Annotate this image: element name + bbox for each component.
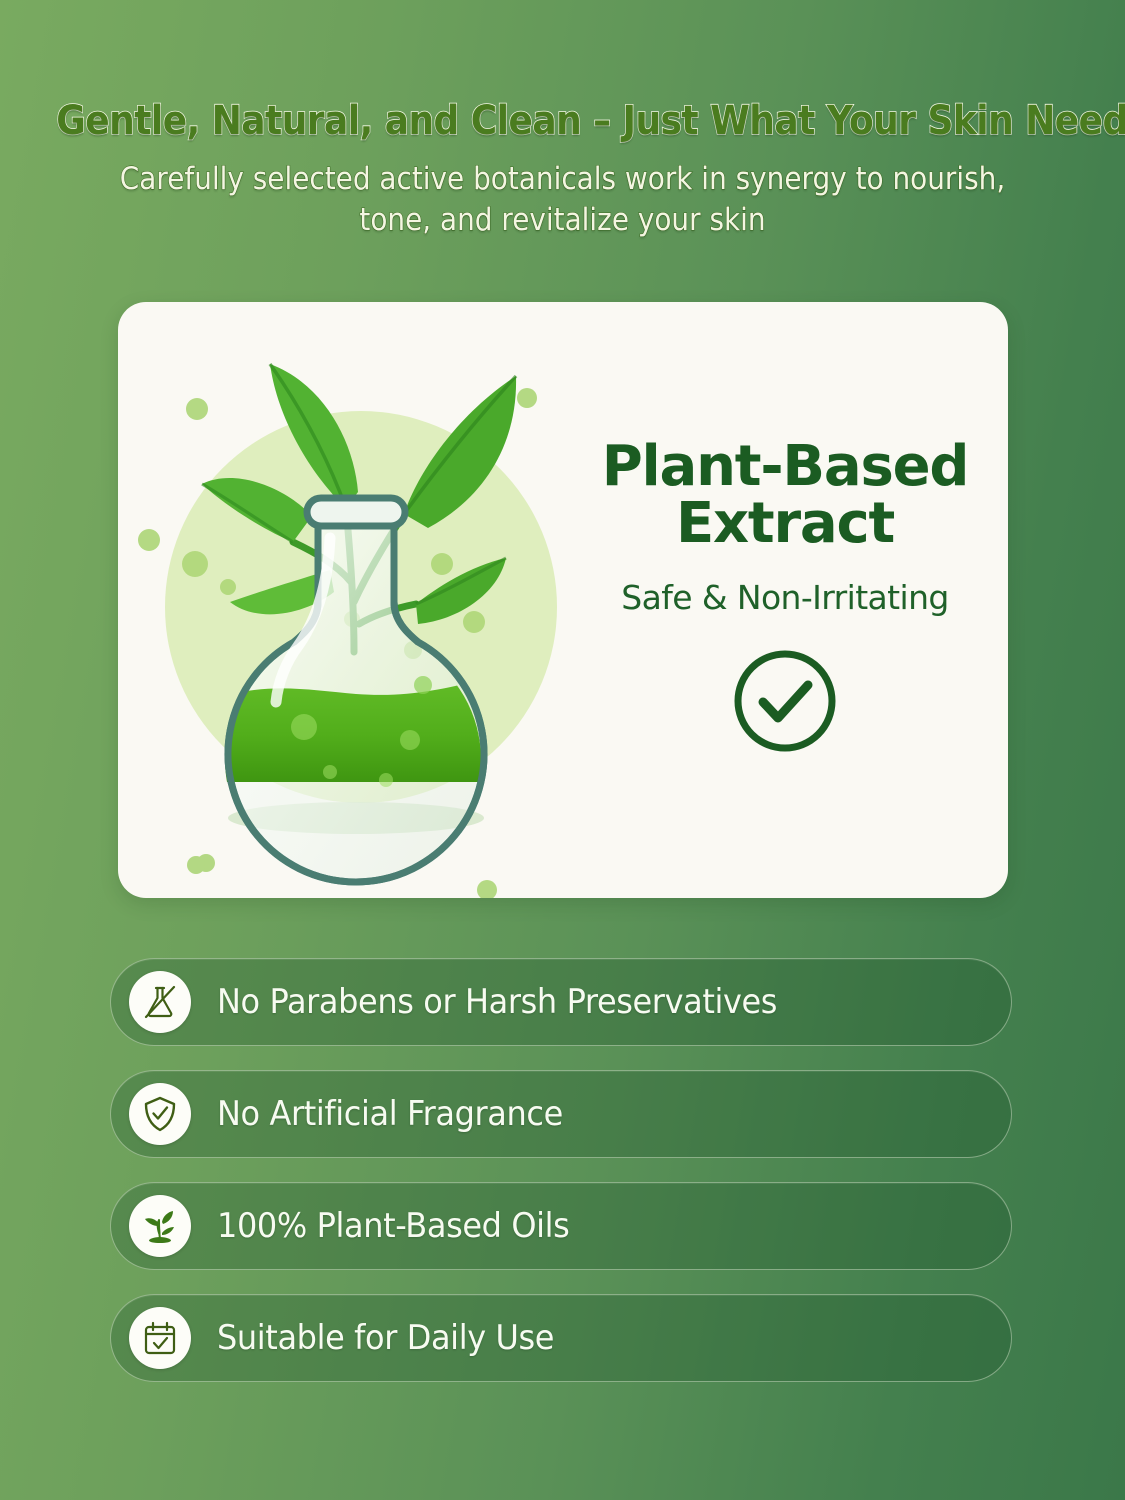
page-headline: Gentle, Natural, and Clean – Just What Y… [56,98,1069,145]
shield-check-icon [129,1083,191,1145]
card-title: Plant-Based Extract [588,438,982,552]
feature-item-no-parabens[interactable]: No Parabens or Harsh Preservatives [110,958,1012,1046]
feature-label: Suitable for Daily Use [217,1318,554,1358]
subtitle-line-1: Carefully selected active botanicals wor… [56,159,1069,200]
feature-item-plant-based-oils[interactable]: 100% Plant-Based Oils [110,1182,1012,1270]
infographic-page: Gentle, Natural, and Clean – Just What Y… [0,0,1125,1500]
header-block: Gentle, Natural, and Clean – Just What Y… [0,98,1125,241]
card-text-block: Plant-Based Extract Safe & Non-Irritatin… [588,438,1008,762]
card-title-line-2: Extract [588,495,982,552]
feature-list: No Parabens or Harsh Preservatives No Ar… [110,958,1012,1406]
feature-label: No Artificial Fragrance [217,1094,563,1134]
seedling-icon [129,1195,191,1257]
flask-with-plant-illustration [118,302,588,898]
circle-check-icon [729,645,841,762]
feature-label: 100% Plant-Based Oils [217,1206,569,1246]
feature-item-daily-use[interactable]: Suitable for Daily Use [110,1294,1012,1382]
card-subtitle: Safe & Non-Irritating [588,578,982,617]
hero-card: Plant-Based Extract Safe & Non-Irritatin… [118,302,1008,898]
feature-label: No Parabens or Harsh Preservatives [217,982,777,1022]
feature-item-no-fragrance[interactable]: No Artificial Fragrance [110,1070,1012,1158]
subtitle-line-2: tone, and revitalize your skin [56,200,1069,241]
card-title-line-1: Plant-Based [602,434,969,499]
page-subtitle: Carefully selected active botanicals wor… [56,159,1069,241]
no-flask-icon [129,971,191,1033]
calendar-check-icon [129,1307,191,1369]
